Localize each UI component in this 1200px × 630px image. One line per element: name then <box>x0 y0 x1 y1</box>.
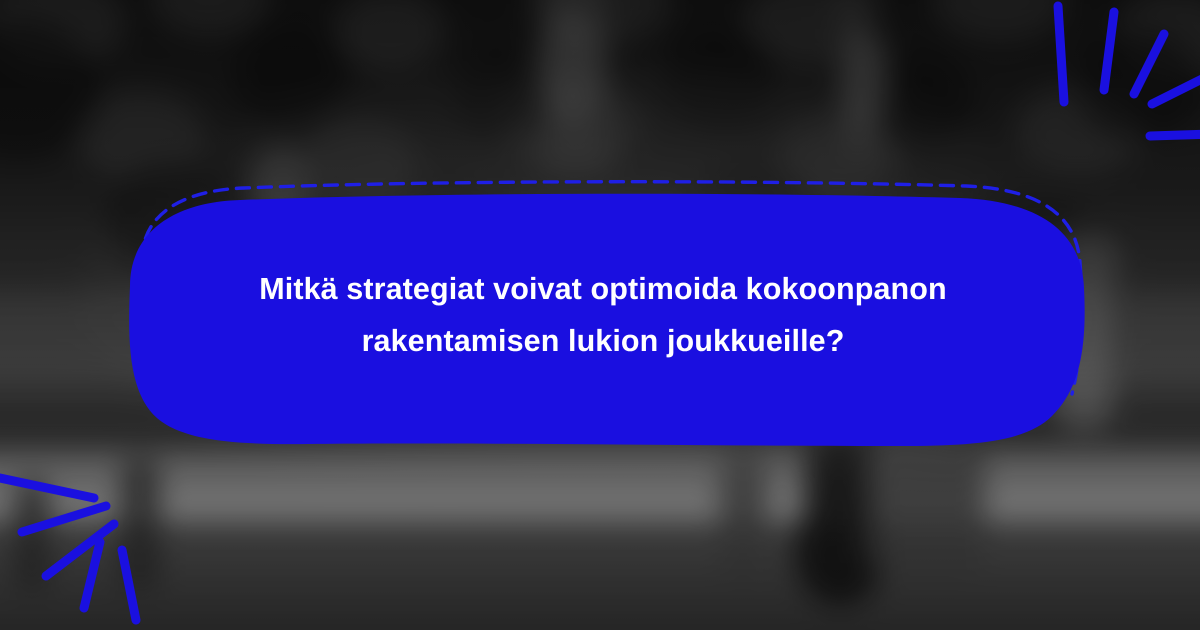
headline-text: Mitkä strategiat voivat optimoida kokoon… <box>208 263 998 368</box>
headline-card: Mitkä strategiat voivat optimoida kokoon… <box>108 176 1098 454</box>
social-card-canvas: Mitkä strategiat voivat optimoida kokoon… <box>0 0 1200 630</box>
headline-block: Mitkä strategiat voivat optimoida kokoon… <box>108 176 1098 454</box>
